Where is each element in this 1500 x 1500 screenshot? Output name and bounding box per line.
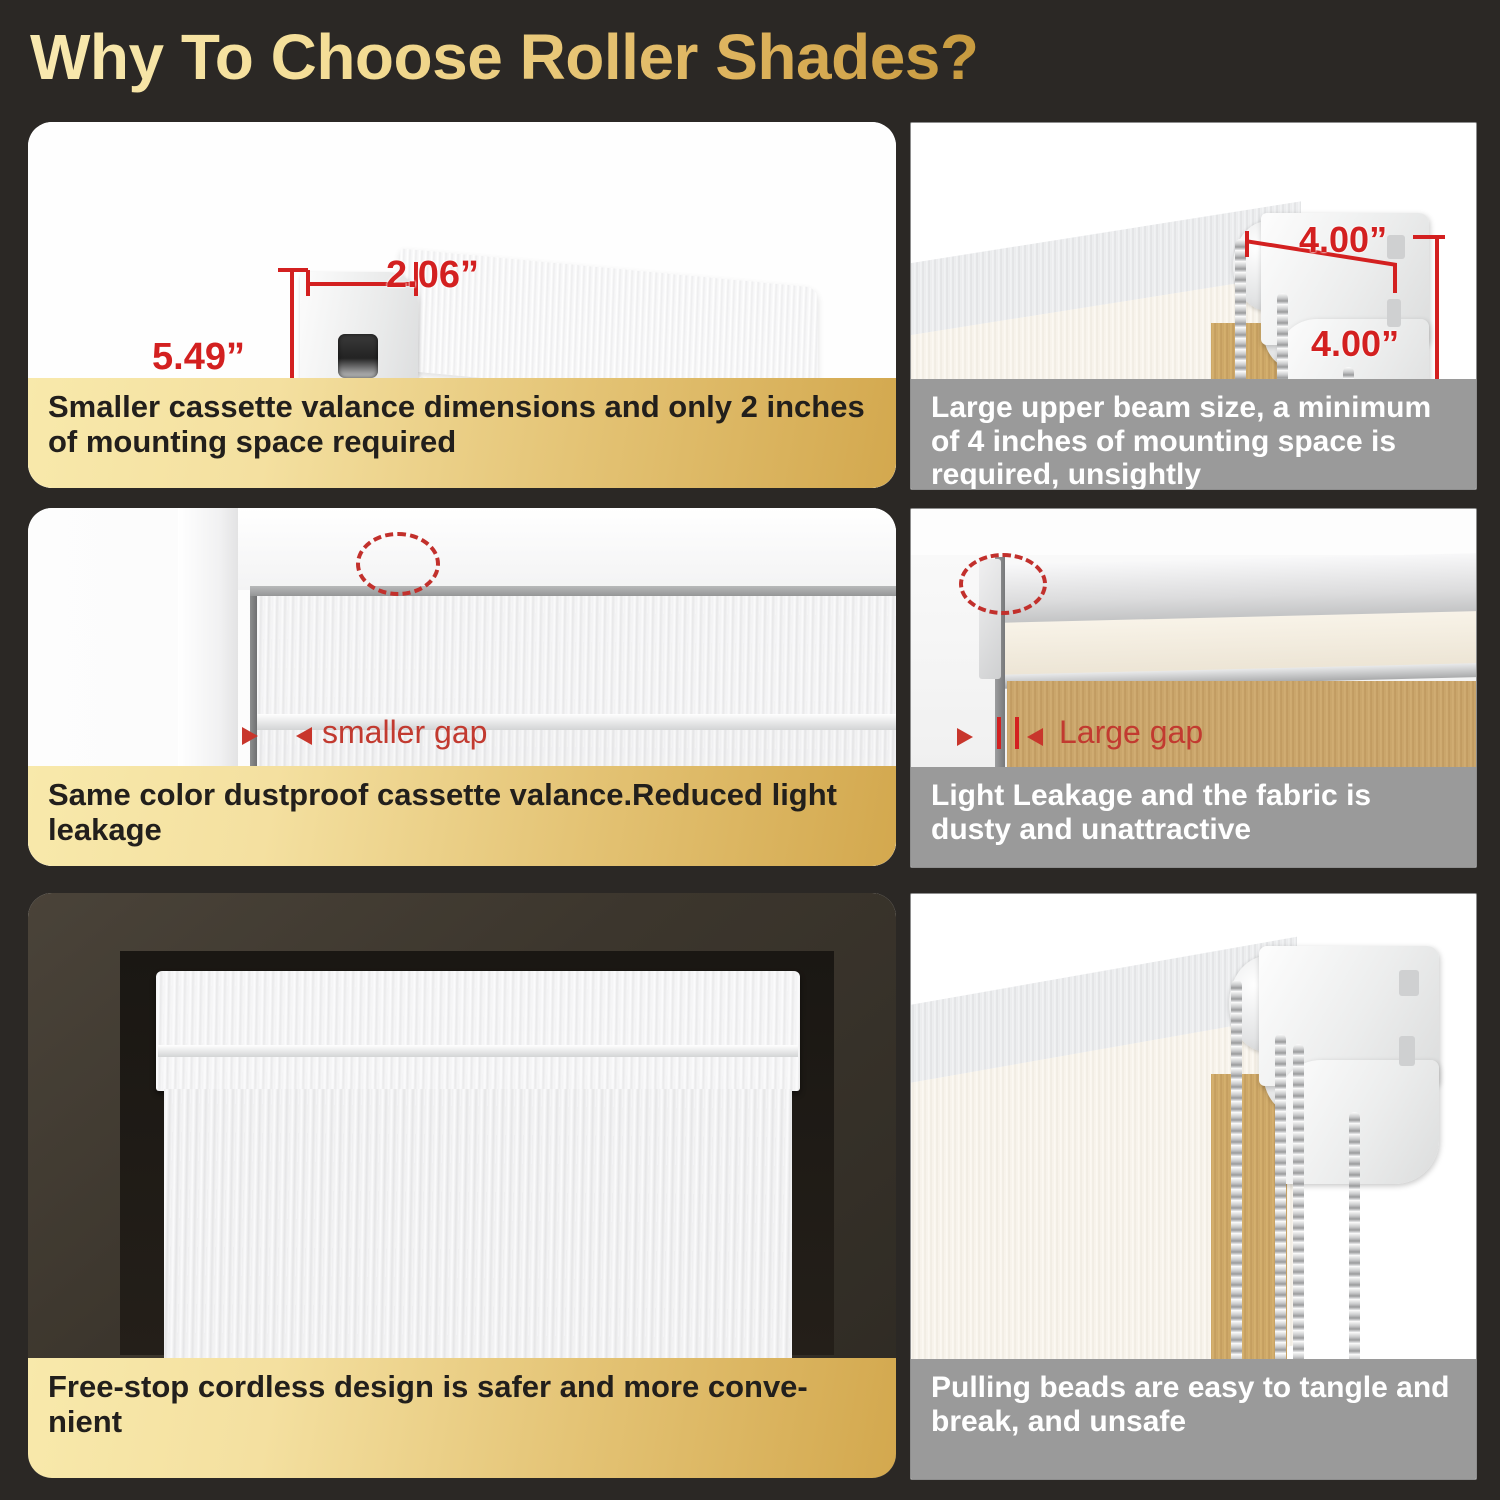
- gap-callout-label: smaller gap: [322, 714, 487, 751]
- dimension-label-height: 4.00”: [1311, 323, 1399, 365]
- panel-light-leakage: Large gap Light Leakage and the fabric i…: [910, 508, 1477, 868]
- roller-shade: [156, 971, 800, 1403]
- page-title: Why To Choose Roller Shades?: [30, 20, 978, 94]
- bead-chain-mid-2: [1293, 1044, 1304, 1372]
- infographic-root: Why To Choose Roller Shades? 2.06”: [0, 0, 1500, 1500]
- panel-1-caption: Smaller cassette valance dimensions and …: [28, 378, 896, 488]
- panel-4-caption: Light Leakage and the fabric is dusty an…: [911, 767, 1476, 867]
- gap-arrow-left: [957, 728, 973, 746]
- shade-fabric: [164, 1089, 792, 1379]
- dimension-label-width: 2.06”: [386, 254, 479, 297]
- bead-chain-left: [1231, 980, 1242, 1372]
- gap-arrow-right: [1027, 728, 1043, 746]
- bead-chain-right: [1349, 1112, 1360, 1370]
- panel-6-caption: Pulling beads are easy to tangle and bre…: [911, 1359, 1476, 1479]
- gap-arrow-left: [242, 727, 258, 745]
- gap-arrow-right: [296, 727, 312, 745]
- dimension-label-width: 4.00”: [1299, 219, 1387, 261]
- cord-slot: [338, 334, 378, 378]
- highlight-circle: [356, 532, 440, 596]
- panel-dustproof-valance: smaller gap Same color dustproof cassett…: [28, 508, 896, 866]
- panel-cordless-design: Free-stop cordless design is safer and m…: [28, 893, 896, 1478]
- panel-5-caption: Free-stop cordless design is safer and m…: [28, 1358, 896, 1478]
- window-frame-top: [178, 508, 896, 590]
- panel-pulling-beads: Pulling beads are easy to tangle and bre…: [910, 893, 1477, 1480]
- valance-slat-upper: [256, 596, 896, 714]
- dimension-label-height: 5.49”: [152, 336, 245, 379]
- bead-chain-mid: [1275, 1034, 1286, 1372]
- panel-2-caption: Large upper beam size, a minimum of 4 in…: [911, 379, 1476, 489]
- panel-3-caption: Same color dustproof cassette valance.Re…: [28, 766, 896, 866]
- highlight-circle: [959, 553, 1047, 615]
- panel-large-beam: 4.00” 4.00” Large upper beam size, a min…: [910, 122, 1477, 490]
- gap-callout-label: Large gap: [1059, 714, 1203, 751]
- panel-smaller-cassette: 2.06” 5.49” Smaller cassette valance dim…: [28, 122, 896, 488]
- cassette-valance: [156, 971, 800, 1091]
- dim-tick-top: [278, 268, 308, 272]
